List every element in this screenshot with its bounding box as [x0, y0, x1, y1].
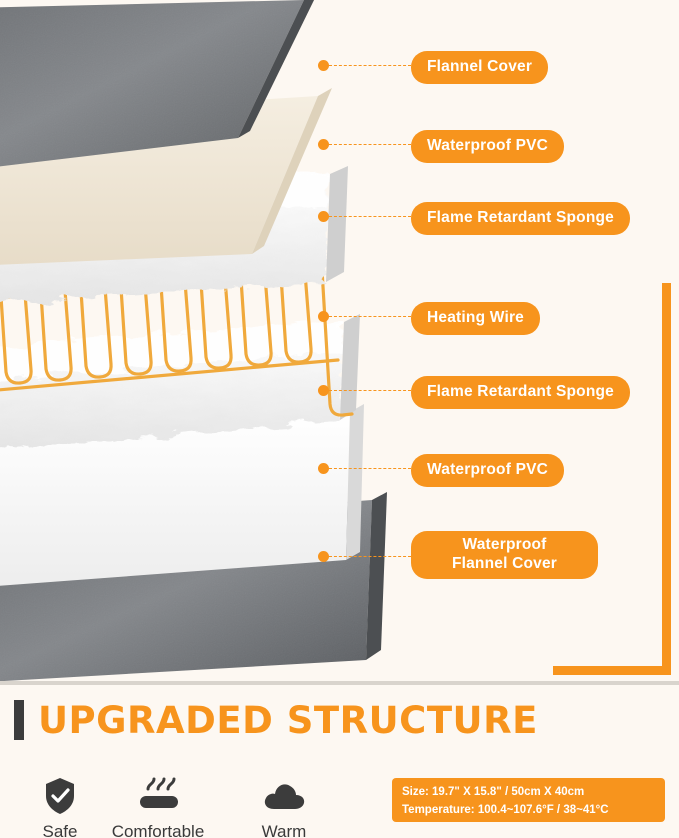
callout-dot-flannel-cover	[318, 60, 329, 71]
title-accent-bar	[14, 700, 24, 740]
feature-label-safe: Safe	[12, 822, 108, 838]
callout-dot-flame-retardant-sponge-bottom	[318, 385, 329, 396]
callout-line-waterproof-flannel-cover	[329, 556, 411, 557]
shield-check-icon	[12, 768, 108, 816]
page-title: UPGRADED STRUCTURE	[38, 699, 538, 742]
banner-title-row: UPGRADED STRUCTURE	[0, 694, 679, 746]
callout-line-flannel-cover	[329, 65, 411, 66]
feature-label-comfortable: Comfortable	[110, 822, 206, 838]
feature-safe: Safe	[12, 768, 108, 838]
feature-label-warm: Warm	[236, 822, 332, 838]
callout-heating-wire: Heating Wire	[411, 302, 540, 335]
callout-line-waterproof-pvc-top	[329, 144, 411, 145]
callout-dot-flame-retardant-sponge-top	[318, 211, 329, 222]
callout-line-waterproof-pvc-bottom	[329, 468, 411, 469]
callout-waterproof-pvc-bottom: Waterproof PVC	[411, 454, 564, 487]
product-structure-infographic: Flannel Cover Waterproof PVC Flame Retar…	[0, 0, 679, 838]
cloud-icon	[236, 768, 332, 816]
spec-box: Size: 19.7" X 15.8" / 50cm X 40cm Temper…	[392, 778, 665, 822]
callout-flame-retardant-sponge-bottom: Flame Retardant Sponge	[411, 376, 630, 409]
callout-flame-retardant-sponge-top: Flame Retardant Sponge	[411, 202, 630, 235]
spec-temperature: Temperature: 100.4~107.6°F / 38~41°C	[402, 802, 657, 820]
spec-size: Size: 19.7" X 15.8" / 50cm X 40cm	[402, 784, 657, 802]
callout-line-1: Waterproof	[462, 536, 546, 553]
callout-line-flame-retardant-sponge-top	[329, 216, 411, 217]
callout-line-flame-retardant-sponge-bottom	[329, 390, 411, 391]
exploded-layer-diagram: Flannel Cover Waterproof PVC Flame Retar…	[0, 0, 679, 683]
callout-waterproof-flannel-cover: Waterproof Flannel Cover	[411, 531, 598, 579]
feature-comfortable: Comfortable	[110, 768, 206, 838]
callout-flannel-cover: Flannel Cover	[411, 51, 548, 84]
orange-corner-bracket	[553, 283, 671, 675]
callout-line-heating-wire	[329, 316, 411, 317]
callout-waterproof-pvc-top: Waterproof PVC	[411, 130, 564, 163]
callout-dot-waterproof-flannel-cover	[318, 551, 329, 562]
heat-waves-icon	[110, 768, 206, 816]
callout-dot-heating-wire	[318, 311, 329, 322]
feature-warm: Warm	[236, 768, 332, 838]
section-divider	[0, 681, 679, 685]
callout-dot-waterproof-pvc-top	[318, 139, 329, 150]
callout-dot-waterproof-pvc-bottom	[318, 463, 329, 474]
callout-line-2: Flannel Cover	[452, 555, 557, 572]
